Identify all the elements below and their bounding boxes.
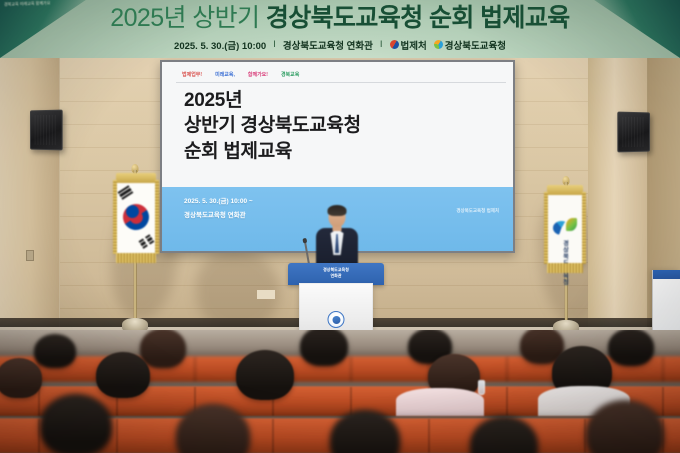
wall-switch-plate (26, 250, 34, 261)
audience-area (0, 330, 680, 453)
wall-outlet-center (257, 290, 270, 299)
flag-fringe-right-side (155, 180, 159, 254)
flag-bottom-fringe-left (116, 253, 156, 263)
banner-org-1-label: 법제처 (401, 38, 427, 52)
gboe-logo-leaf (566, 218, 577, 231)
banner-separator-1: I (273, 39, 276, 50)
audience-head (300, 330, 348, 366)
wall-pillar-right (588, 56, 648, 346)
banner-title: 2025년 상반기 경상북도교육청 순회 법제교육 (0, 0, 680, 33)
banner-org-2-label: 경상북도교육청 (445, 38, 506, 52)
slide-band-venue: 경상북도교육청 연화관 (184, 209, 253, 223)
audience-head (40, 394, 112, 453)
slide-tag-0: 법제업무! (182, 71, 202, 78)
banner-venue: 경상북도교육청 연화관 (283, 38, 373, 52)
slide-tag-1: 미래교육, (215, 71, 235, 78)
banner-subtitle: 2025. 5. 30.(금) 10:00 I 경상북도교육청 연화관 I 법제… (0, 38, 680, 52)
podium-label: 경상북도교육청 연화관 (323, 267, 349, 279)
slide-title-line-2: 상반기 경상북도교육청 (184, 113, 503, 138)
side-board-header (653, 270, 680, 279)
audience-head (34, 334, 76, 368)
wall-speaker-left (30, 110, 63, 151)
gboe-fringe-left-side (544, 192, 548, 264)
trigram-gon (139, 234, 155, 249)
slide-title-line-1: 2025년 (184, 88, 503, 113)
gboe-logo (553, 218, 577, 236)
banner-org-2: 경상북도교육청 (434, 38, 506, 52)
flag-fringe-left-side (113, 180, 117, 254)
audience-head (608, 330, 654, 366)
trigram-geon (118, 185, 134, 200)
podium-top-panel: 경상북도교육청 연화관 (288, 263, 384, 285)
gboe-flag-stand: 경상북도교육청 (540, 182, 592, 332)
audience-head (96, 352, 150, 398)
audience-head (330, 410, 400, 453)
flag-bottom-fringe-right (547, 263, 583, 273)
gboe-fringe-right-side (582, 192, 586, 264)
banner-title-part-1: 2025년 상반기 (110, 4, 259, 32)
gboe-logo-icon (434, 40, 443, 49)
flag-top-wrap-left (116, 173, 156, 183)
flag-top-wrap-right (547, 185, 583, 195)
presenter-hair (328, 205, 347, 216)
slide-band-organizers: 경상북도교육청 법제처 (456, 208, 499, 214)
banner-title-part-2: 경상북도교육청 순회 법제교육 (266, 4, 570, 32)
slide-title: 2025년 상반기 경상북도교육청 순회 법제교육 (184, 88, 503, 164)
slide-divider (176, 82, 506, 83)
taeguk-circle (118, 199, 154, 235)
banner-separator-2: I (380, 39, 383, 50)
korea-flag-stand (108, 170, 162, 330)
slide-tag-row: 법제업무! 미래교육, 함께가요! 경북교육 (182, 68, 499, 81)
slide-band-datetime: 2025. 5. 30.(금) 10:00 ~ (184, 195, 253, 209)
podium-label-line-2: 연화관 (323, 273, 349, 279)
presenter-person (316, 206, 358, 268)
banner-org-1: 법제처 (390, 38, 427, 52)
banner-datetime: 2025. 5. 30.(금) 10:00 (174, 38, 266, 52)
moj-logo-icon (390, 40, 399, 49)
audience-head (140, 330, 186, 368)
wall-speaker-right (617, 112, 650, 153)
slide-band-text: 2025. 5. 30.(금) 10:00 ~ 경상북도교육청 연화관 (184, 195, 253, 222)
audience-head (0, 358, 42, 398)
podium-emblem (328, 311, 345, 328)
slide-tag-2: 함께가요! (248, 71, 268, 78)
water-bottle (478, 380, 485, 395)
korea-flag-cloth (116, 180, 156, 254)
slide-title-line-3: 순회 법제교육 (184, 139, 503, 164)
auditorium-photo: 법제업무! 미래교육, 함께가요! 경북교육 2025년 상반기 경상북도교육청… (0, 0, 680, 453)
wall-pillar-left (0, 56, 60, 346)
audience-head (236, 350, 294, 400)
event-banner: 경북교육 미래교육 함께가요 2025년 상반기 경상북도교육청 순회 법제교육… (0, 0, 680, 58)
gboe-flag-cloth: 경상북도교육청 (547, 192, 583, 264)
slide-tag-3: 경북교육 (281, 71, 299, 78)
audience-shoulders (396, 388, 484, 416)
